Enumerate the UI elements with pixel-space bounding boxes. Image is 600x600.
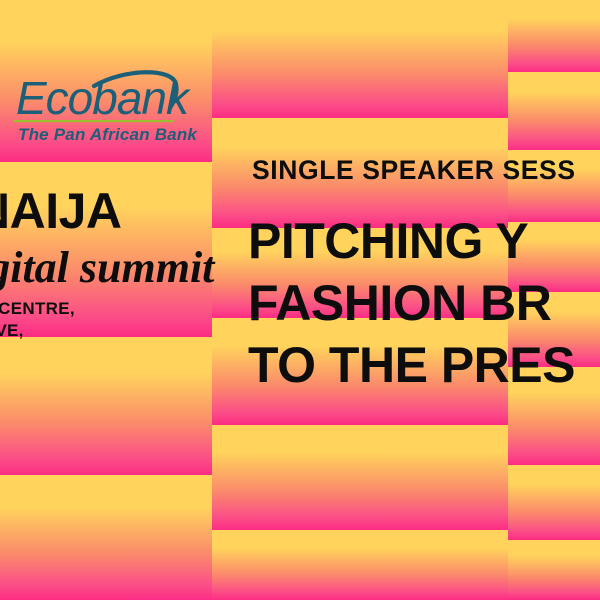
headline-line-1: PITCHING Y — [248, 210, 575, 272]
event-script-svg: digital summit — [0, 238, 254, 296]
ecobank-tagline: The Pan African Bank — [18, 125, 198, 144]
headline-line-3: TO THE PRES — [248, 334, 575, 396]
script-text: digital summit — [0, 243, 216, 292]
headline-line-2: FASHION BR — [248, 272, 575, 334]
promo-poster: e Ecobank The Pan African Bank NAIJA dig… — [0, 0, 600, 600]
event-script-line: digital summit — [0, 238, 254, 296]
event-name: NAIJA — [0, 186, 122, 236]
ecobank-underline — [14, 120, 174, 122]
ecobank-logo: e Ecobank The Pan African Bank — [0, 62, 212, 144]
address-line-1: AN CENTRE, — [0, 298, 75, 320]
headline: PITCHING Y FASHION BR TO THE PRES — [248, 210, 575, 396]
main-text-block: SINGLE SPEAKER SESS PITCHING Y FASHION B… — [252, 0, 600, 600]
address-line-3: OS — [0, 342, 75, 364]
session-kicker: SINGLE SPEAKER SESS — [252, 157, 576, 184]
ecobank-wordmark: Ecobank — [16, 72, 191, 124]
address-line-2: E AVE, — [0, 320, 75, 342]
ecobank-logo-svg: e Ecobank The Pan African Bank — [0, 62, 212, 144]
left-info-panel: e Ecobank The Pan African Bank NAIJA dig… — [0, 0, 212, 600]
venue-address: AN CENTRE, E AVE, OS — [0, 298, 75, 364]
